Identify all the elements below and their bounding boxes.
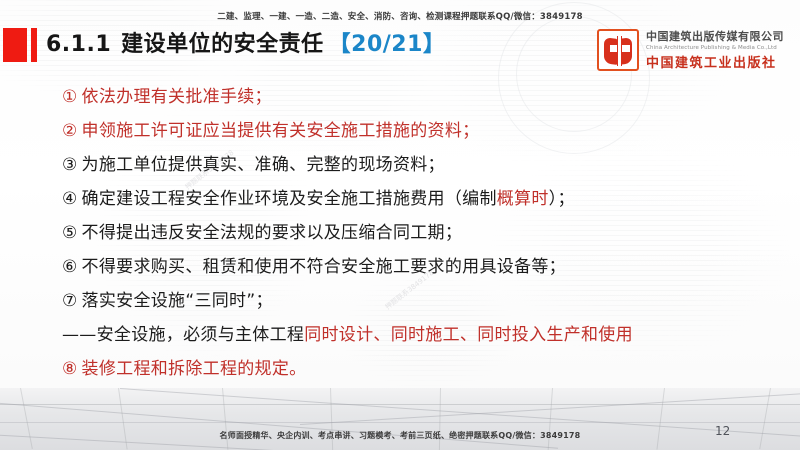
publisher-logo: 中国建筑出版传媒有限公司 China Architecture Publishi… (597, 28, 784, 71)
list-item-text: 概算时 (497, 189, 549, 209)
title-accent-block (3, 28, 27, 62)
page-number: 12 (715, 424, 730, 438)
list-item: ①依法办理有关批准手续； (62, 80, 782, 114)
open-book-logo-icon (597, 29, 639, 71)
list-item-marker: ② (62, 121, 78, 141)
publisher-company-cn: 中国建筑出版传媒有限公司 (646, 28, 784, 44)
section-progress-badge: 【20/21】 (329, 32, 446, 57)
list-item-marker: ⑦ (62, 291, 78, 311)
list-item: ——安全设施，必须与主体工程同时设计、同时施工、同时投入生产和使用 (62, 318, 782, 352)
publisher-press-cn: 中国建筑工业出版社 (646, 52, 784, 71)
list-item: ②申领施工许可证应当提供有关安全施工措施的资料； (62, 114, 782, 148)
responsibility-list: ①依法办理有关批准手续；②申领施工许可证应当提供有关安全施工措施的资料；③为施工… (62, 80, 782, 386)
list-item: ⑥不得要求购买、租赁和使用不符合安全施工要求的用具设备等； (62, 250, 782, 284)
list-item-marker: ⑤ (62, 223, 78, 243)
list-item-text: 确定建设工程安全作业环境及安全施工措施费用（编制 (82, 189, 497, 209)
list-item: ⑦落实安全设施“三同时”； (62, 284, 782, 318)
list-item: ③为施工单位提供真实、准确、完整的现场资料； (62, 148, 782, 182)
top-banner-contact: 二建、监理、一建、一造、二造、安全、消防、咨询、检测课程押题联系QQ/微信：38… (0, 10, 800, 22)
list-item-marker: ③ (62, 155, 78, 175)
list-item-text: ）； (549, 189, 575, 209)
publisher-text-block: 中国建筑出版传媒有限公司 China Architecture Publishi… (646, 28, 784, 71)
list-item-marker: ⑧ (62, 359, 78, 379)
list-item-text: 落实安全设施“三同时”； (82, 291, 273, 311)
section-title: 建设单位的安全责任 (121, 32, 324, 57)
footer-contact: 名师面授精华、央企内训、考点串讲、习题模考、考前三页纸、绝密押题联系QQ/微信：… (0, 430, 800, 441)
list-item: ⑧装修工程和拆除工程的规定。 (62, 352, 782, 386)
list-item-text: 装修工程和拆除工程的规定。 (82, 359, 307, 379)
list-item-marker: ④ (62, 189, 78, 209)
list-item-text: 不得提出违反安全法规的要求以及压缩合同工期； (82, 223, 463, 243)
list-item-text: 为施工单位提供真实、准确、完整的现场资料； (82, 155, 445, 175)
list-item-text: 依法办理有关批准手续； (82, 87, 272, 107)
list-item-text: ——安全设施，必须与主体工程 (62, 325, 304, 345)
list-item-text: 申领施工许可证应当提供有关安全施工措施的资料； (82, 121, 480, 141)
title-accent-bar (31, 28, 37, 62)
page-title: 6.1.1建设单位的安全责任【20/21】 (46, 29, 445, 61)
list-item: ④确定建设工程安全作业环境及安全施工措施费用（编制概算时）； (62, 182, 782, 216)
list-item-text: 同时设计、同时施工、同时投入生产和使用 (304, 325, 633, 345)
list-item: ⑤不得提出违反安全法规的要求以及压缩合同工期； (62, 216, 782, 250)
section-number: 6.1.1 (46, 32, 111, 57)
slide-canvas: 押题联系3849178 押题联系3849178 二建、监理、一建、一造、二造、安… (0, 0, 800, 450)
list-item-marker: ① (62, 87, 78, 107)
publisher-company-en: China Architecture Publishing & Media Co… (646, 45, 784, 51)
list-item-marker: ⑥ (62, 257, 78, 277)
list-item-text: 不得要求购买、租赁和使用不符合安全施工要求的用具设备等； (82, 257, 566, 277)
book-spine-icon (617, 36, 622, 66)
